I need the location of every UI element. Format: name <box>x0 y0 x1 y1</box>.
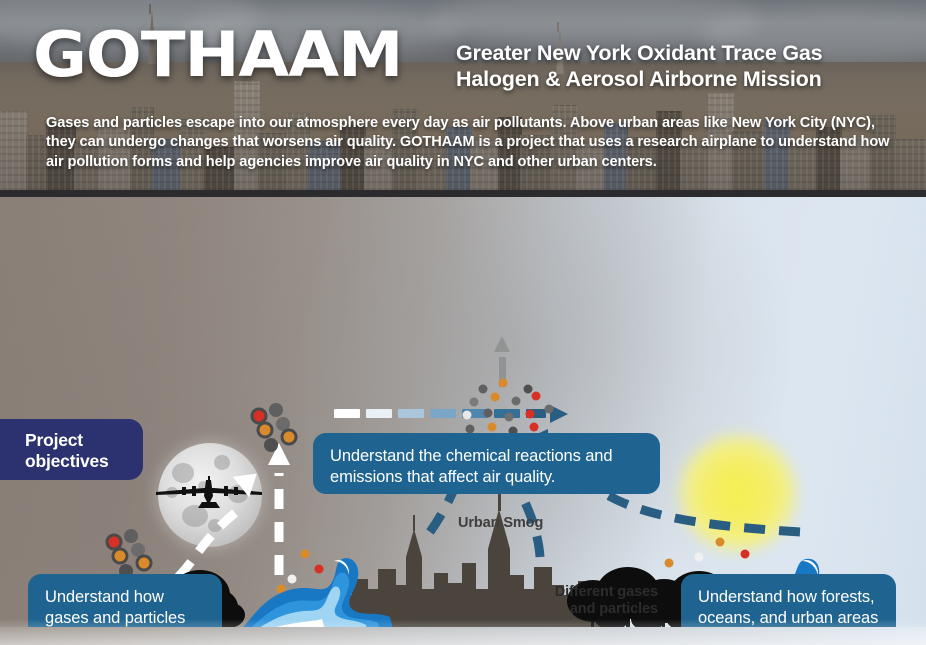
mission-subtitle: Greater New York Oxidant Trace Gas Halog… <box>456 40 916 92</box>
particle-cluster-escape <box>107 529 151 578</box>
particle-cluster-left <box>252 403 296 452</box>
label-different-gases-line-2: and particles <box>570 601 658 617</box>
label-different-gases: Different gases and particles <box>541 584 658 619</box>
scene-bottom-fade <box>0 619 926 645</box>
intro-paragraph: Gases and particles escape into our atmo… <box>46 114 894 172</box>
badge-line-1: Project <box>25 430 83 450</box>
project-objectives-badge: Project objectives <box>0 419 143 480</box>
label-urban-smog: Urban Smog <box>458 515 543 531</box>
callout-chemical-reactions: Understand the chemical reactions and em… <box>313 433 660 494</box>
subtitle-line-1: Greater New York Oxidant Trace Gas <box>456 41 822 65</box>
label-different-gases-line-1: Different gases <box>555 584 658 600</box>
gothaam-wordmark: GOTHAAM <box>33 24 402 86</box>
diagram-scene: Project objectives Understand the chemic… <box>0 197 926 645</box>
badge-line-2: objectives <box>25 451 109 471</box>
header-divider <box>0 190 926 197</box>
gothaam-infographic: GOTHAAM Greater New York Oxidant Trace G… <box>0 0 926 645</box>
header-banner: GOTHAAM Greater New York Oxidant Trace G… <box>0 0 926 197</box>
subtitle-line-2: Halogen & Aerosol Airborne Mission <box>456 67 822 91</box>
